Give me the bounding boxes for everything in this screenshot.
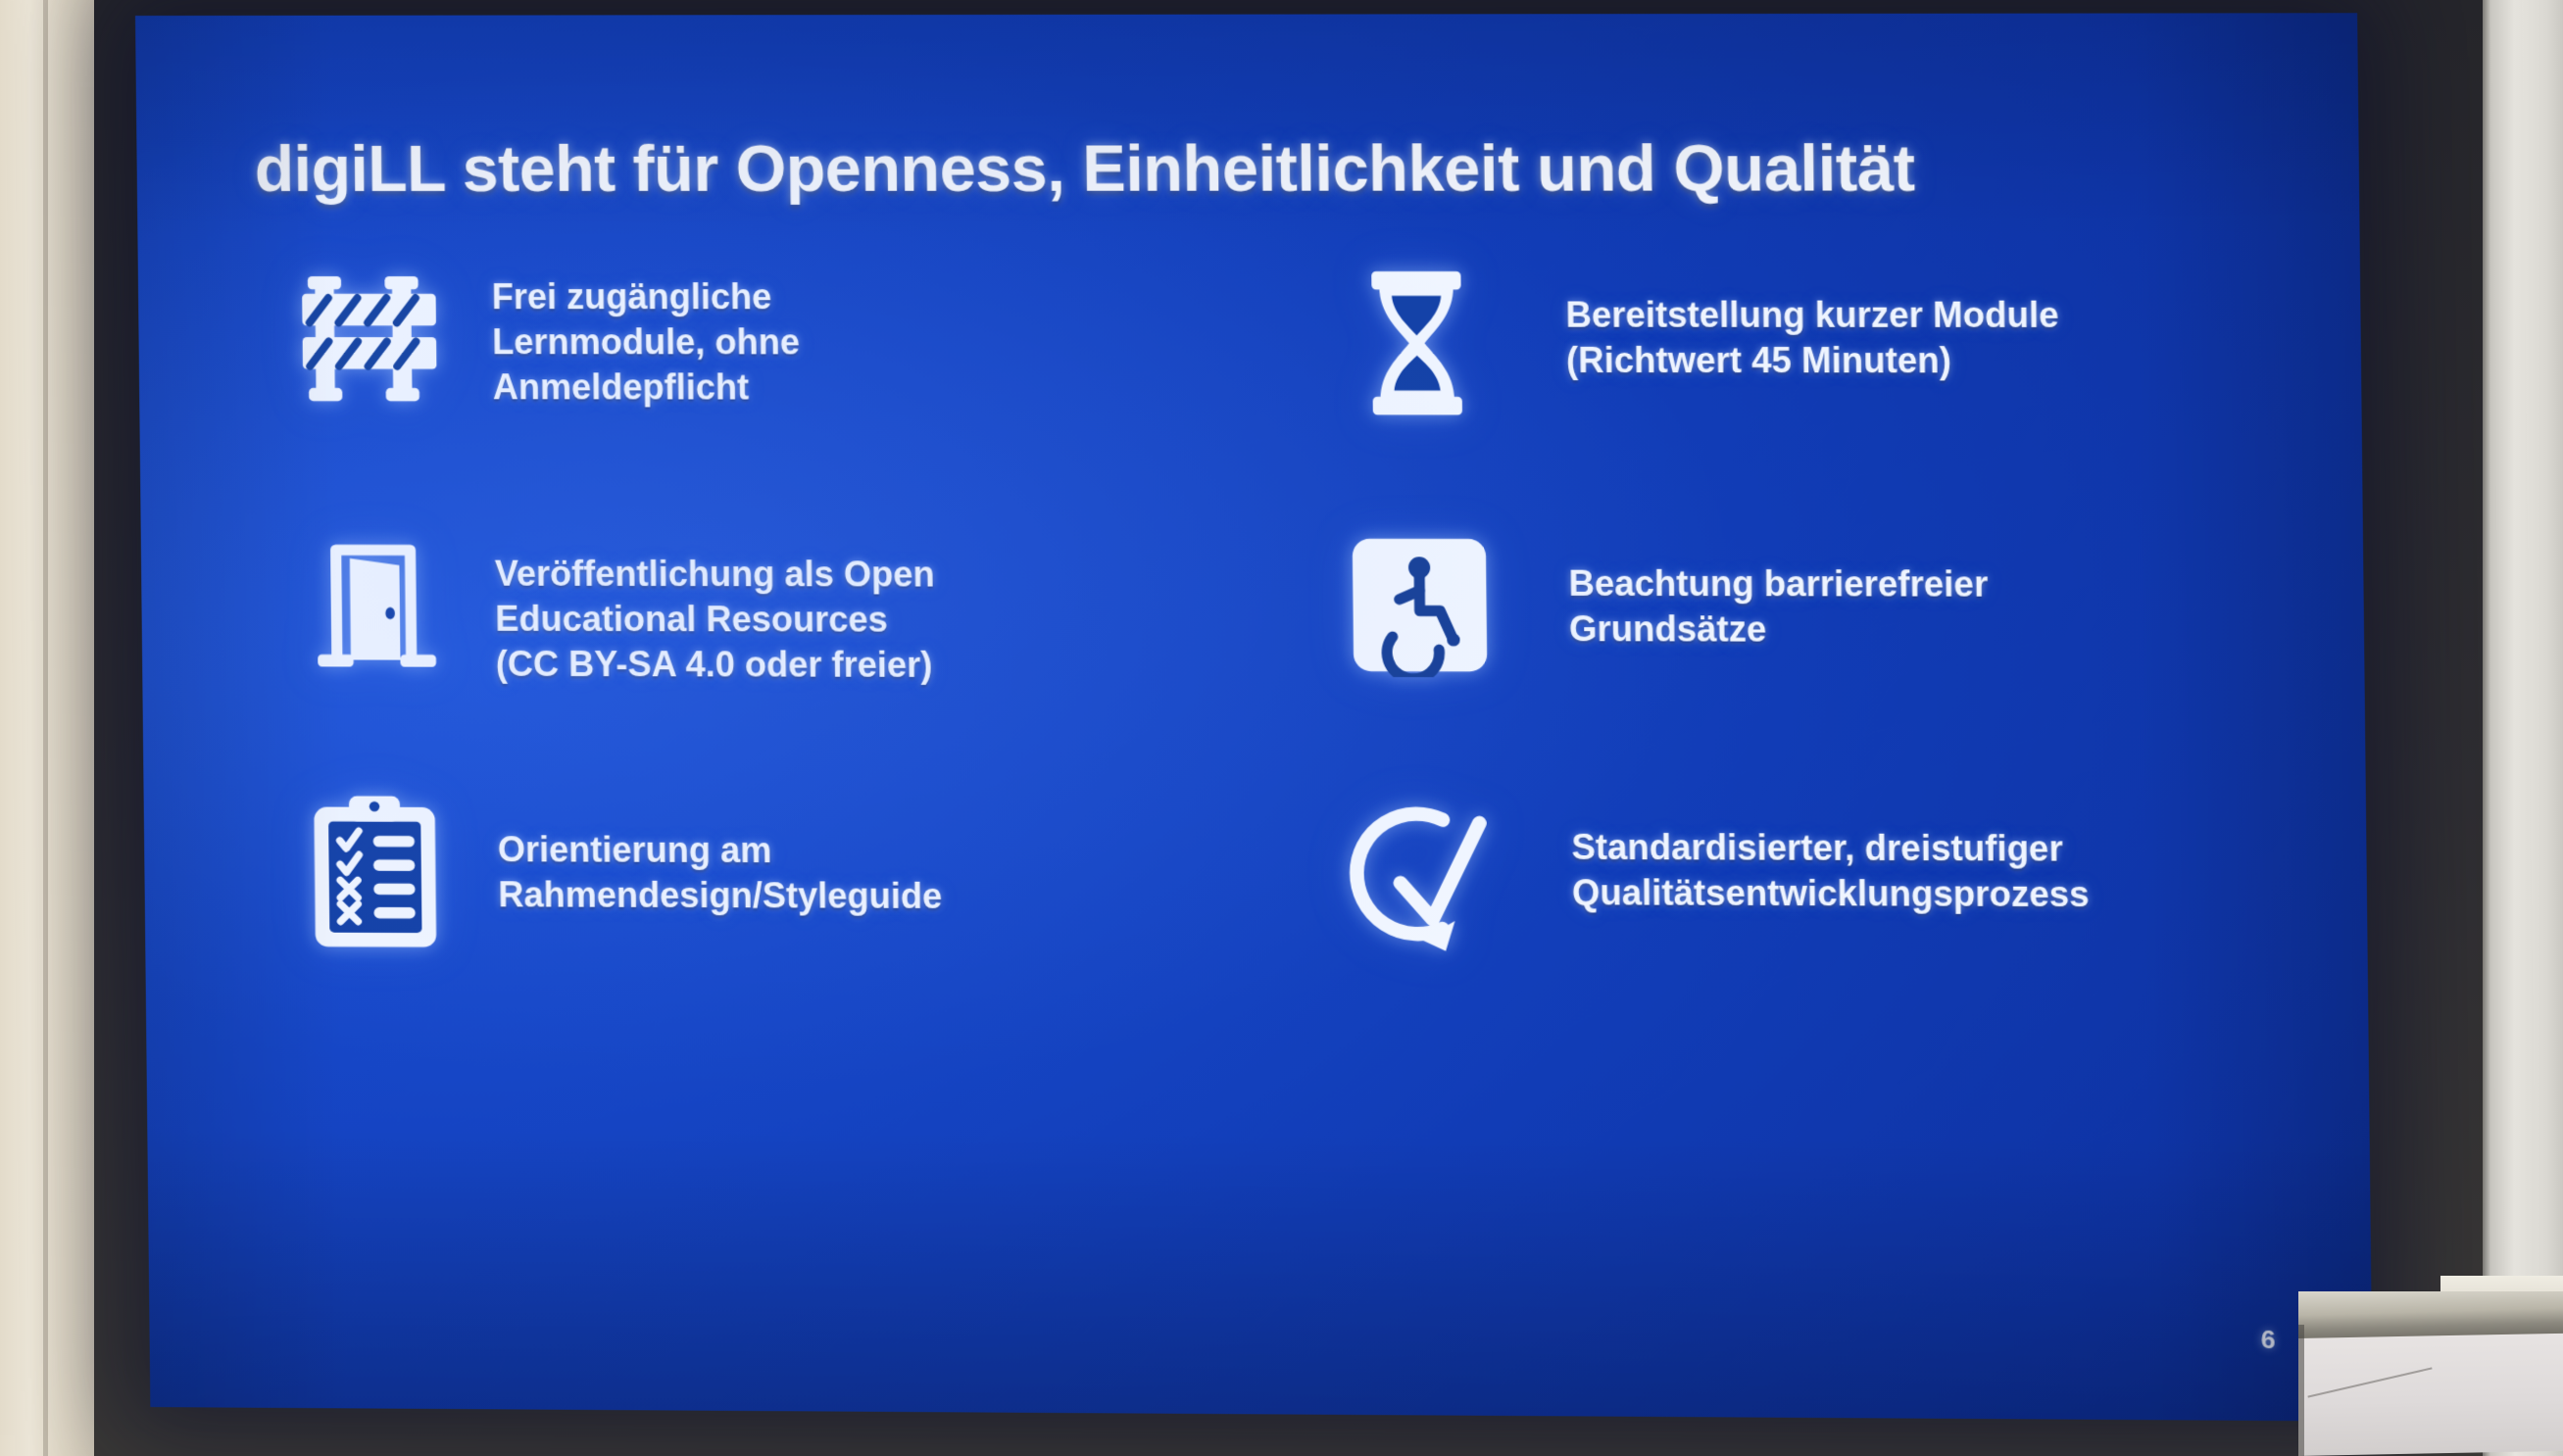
slide-item-text: Bereitstellung kurzer Module (Richtwert … [1565, 261, 2060, 384]
circular-arrow-check-icon [1273, 788, 1573, 952]
item-line: Rahmendesign/Styleguide [498, 872, 942, 919]
item-line: Frei zugängliche [492, 274, 800, 319]
slide-item-veroeffentlichung-oer: Veröffentlichung als Open Educational Re… [249, 525, 1233, 788]
item-line: Beachtung barrierefreier [1568, 561, 1988, 607]
slide-item-barrierefreiheit: Beachtung barrierefreier Grundsätze [1270, 527, 2266, 792]
item-line: Veröffentlichung als Open [495, 552, 935, 598]
flipchart-paper [2298, 1334, 2563, 1456]
slide-item-text: Beachtung barrierefreier Grundsätze [1568, 527, 1989, 653]
clipboard-checklist-icon [252, 785, 499, 953]
item-line: Qualitätsentwicklungsprozess [1572, 870, 2090, 917]
item-line: Educational Resources [495, 597, 935, 643]
road-barrier-icon [246, 261, 493, 413]
slide-item-frei-zugaengliche-lernmodule: Frei zugängliche Lernmodule, ohne Anmeld… [246, 261, 1230, 527]
hourglass-icon [1267, 261, 1567, 419]
slide-item-text: Veröffentlichung als Open Educational Re… [494, 526, 936, 689]
item-line: Lernmodule, ohne [492, 319, 800, 364]
item-line: Standardisierter, dreistufiger [1571, 825, 2089, 872]
slide-item-bereitstellung-kurzer-module: Bereitstellung kurzer Module (Richtwert … [1267, 261, 2263, 528]
item-line: Anmeldepflicht [493, 364, 801, 410]
item-line: (Richtwert 45 Minuten) [1566, 338, 2060, 384]
left-wall-pillar [0, 0, 106, 1456]
open-door-icon [249, 525, 496, 679]
slide-canvas: digiLL steht für Openness, Einheitlichke… [135, 13, 2373, 1421]
slide-item-qualitaetsentwicklungsprozess: Standardisierter, dreistufiger Qualitäts… [1273, 788, 2269, 1058]
item-line: (CC BY-SA 4.0 oder freier) [496, 642, 936, 688]
slide-item-text: Frei zugängliche Lernmodule, ohne Anmeld… [491, 261, 800, 411]
slide-item-text: Standardisierter, dreistufiger Qualitäts… [1571, 789, 2090, 917]
item-line: Bereitstellung kurzer Module [1565, 292, 2059, 338]
room-background: digiLL steht für Openness, Einheitlichke… [0, 0, 2563, 1456]
right-wall-strip [2483, 0, 2563, 1456]
item-line: Orientierung am [498, 827, 942, 874]
slide-item-rahmendesign-styleguide: Orientierung am Rahmendesign/Styleguide [252, 785, 1236, 1054]
wheelchair-accessibility-icon [1270, 527, 1570, 678]
slide-page-number: 6 [2261, 1325, 2276, 1355]
slide-item-text: Orientierung am Rahmendesign/Styleguide [497, 786, 942, 919]
item-line: Grundsätze [1569, 607, 1989, 653]
wall-seam [43, 0, 48, 1456]
flipchart-left-edge [2298, 1325, 2304, 1456]
slide-title: digiLL steht für Openness, Einheitlichke… [254, 130, 2239, 206]
bullet-grid: Frei zugängliche Lernmodule, ohne Anmeld… [246, 261, 2269, 1059]
flipchart [2298, 1291, 2563, 1456]
projected-slide: digiLL steht für Openness, Einheitlichke… [135, 13, 2373, 1421]
